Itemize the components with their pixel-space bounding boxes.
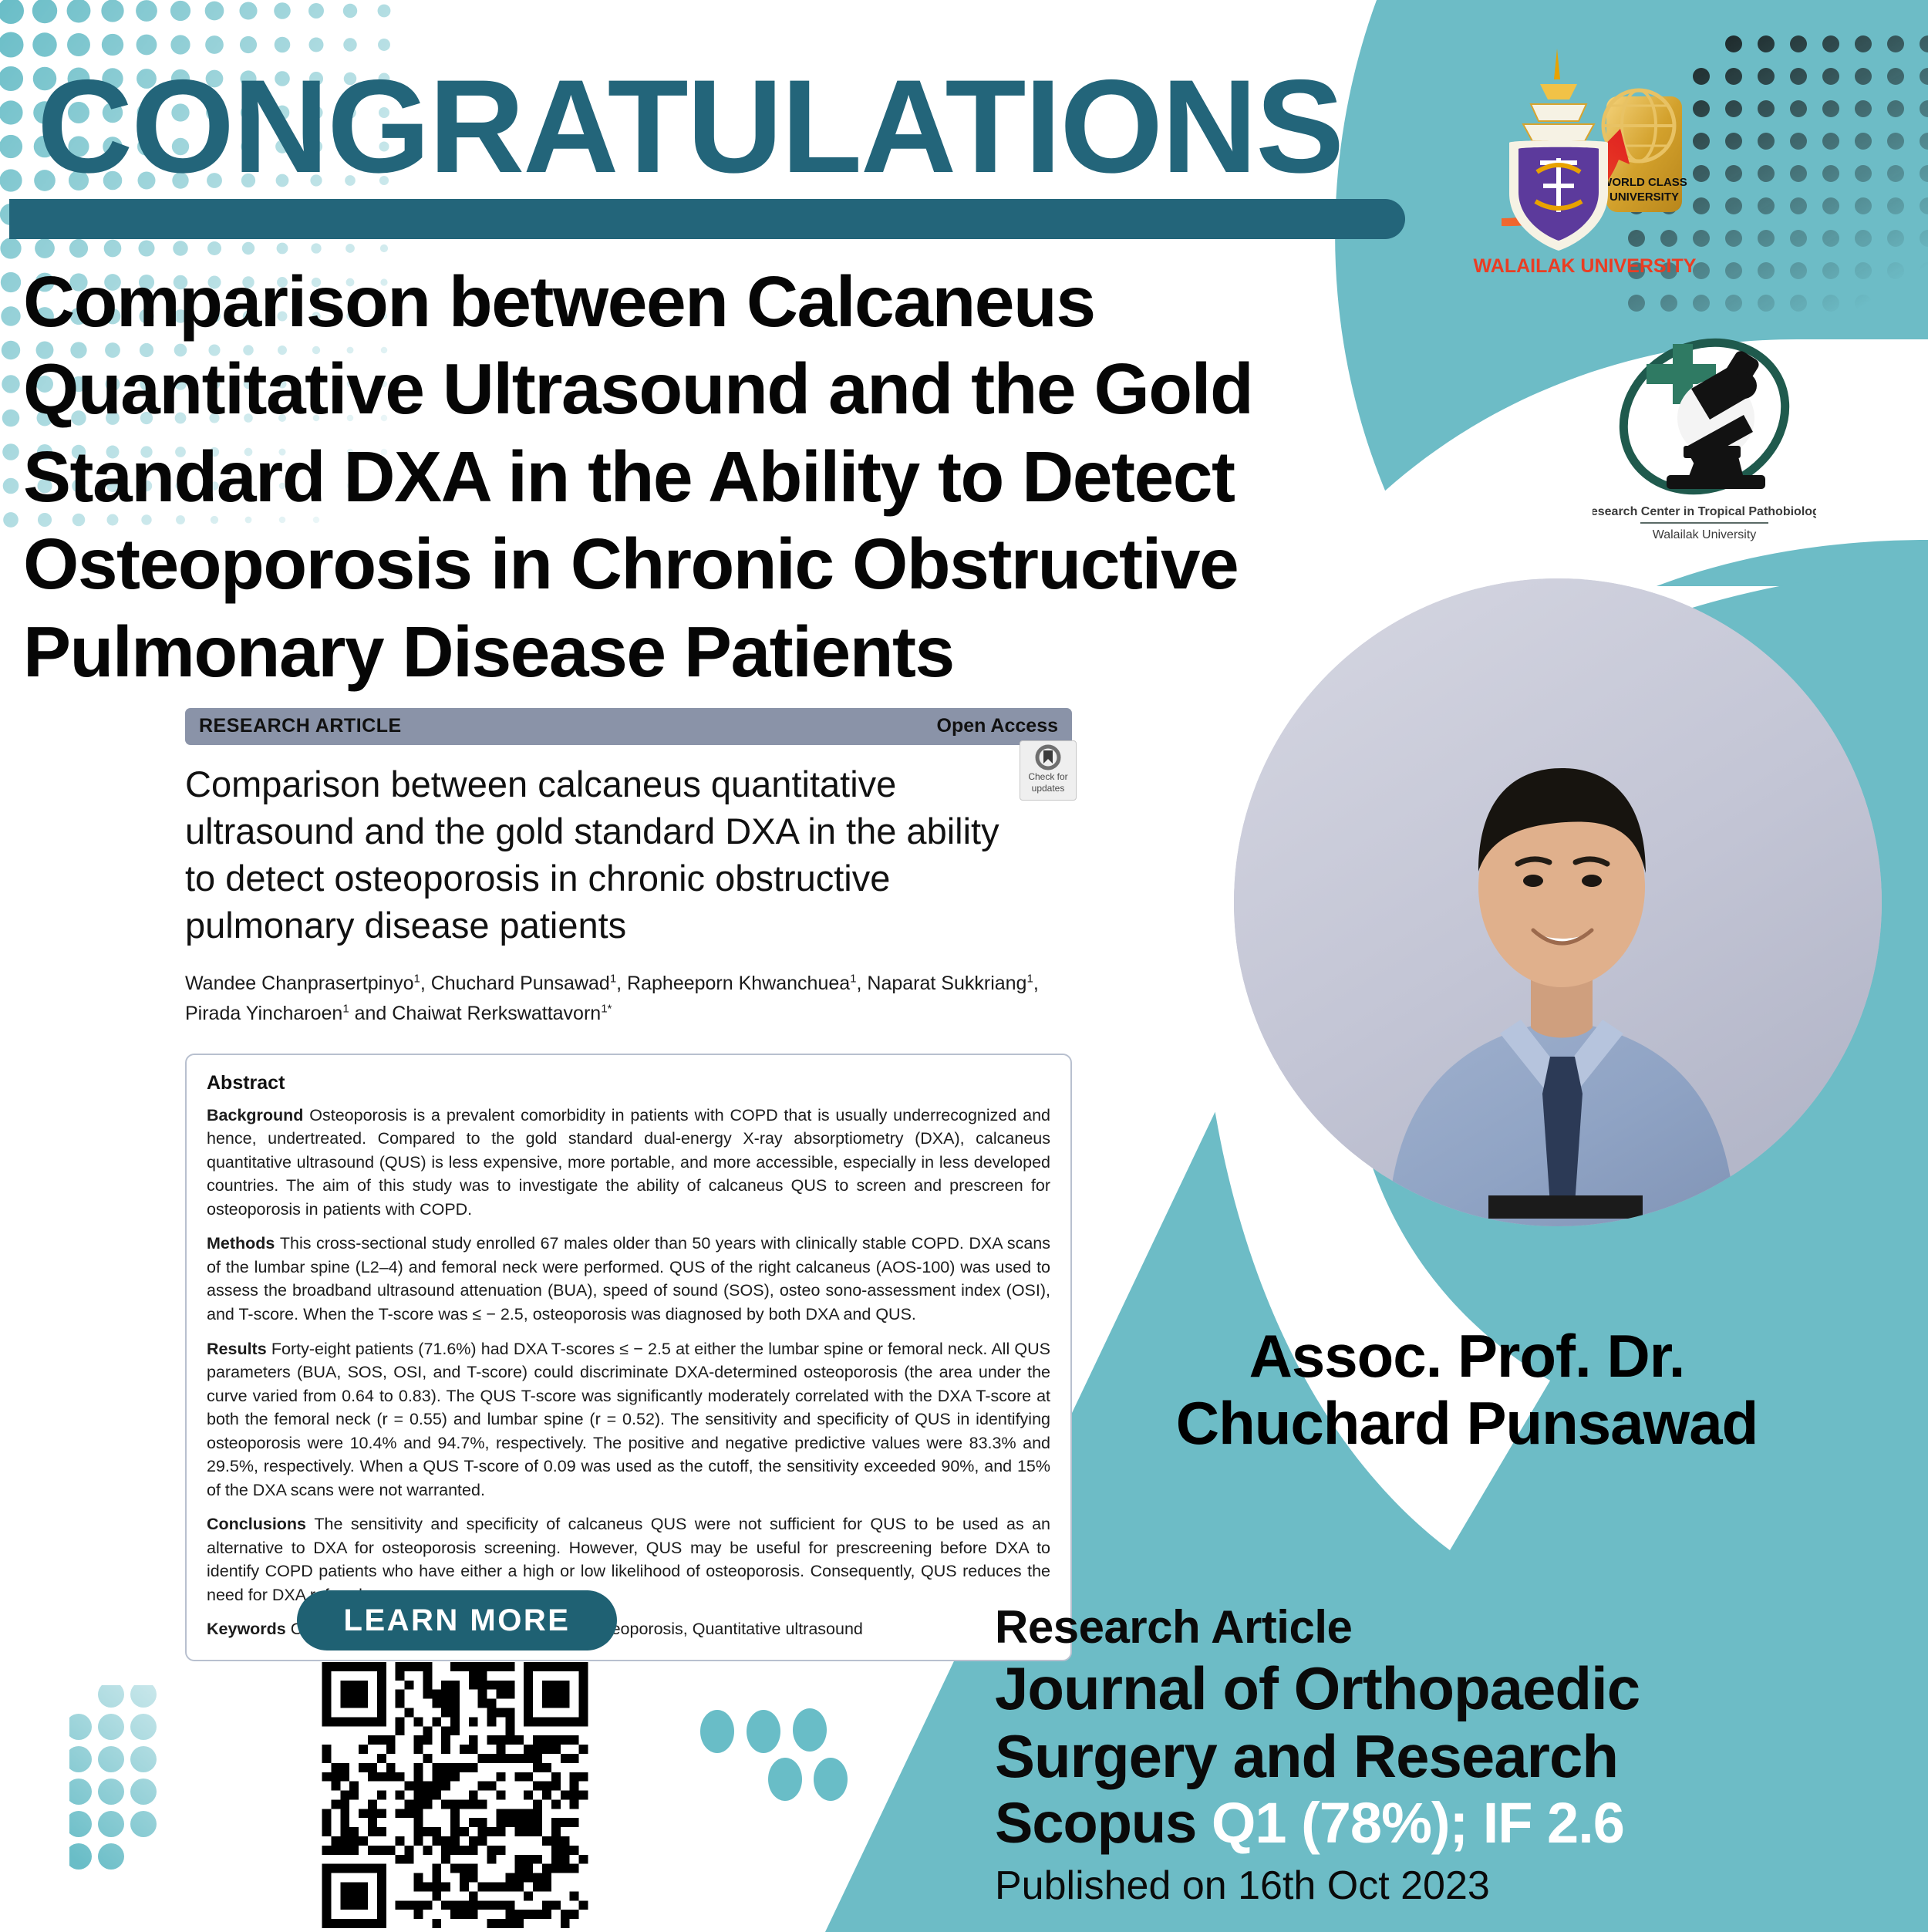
- crossmark-line1: Check for: [1028, 772, 1067, 782]
- abstract-section-results: Results Forty-eight patients (71.6%) had…: [207, 1337, 1050, 1502]
- open-access-badge: Open Access: [937, 715, 1058, 737]
- university-name-label: WALAILAK UNIVERSITY: [1474, 255, 1697, 277]
- paper-authors: Wandee Chanprasertpinyo1, Chuchard Punsa…: [185, 969, 1072, 1029]
- research-center-logo: Research Center in Tropical Pathobiology…: [1593, 324, 1816, 544]
- researcher-title-line: Assoc. Prof. Dr.: [1027, 1323, 1906, 1390]
- world-class-line2: UNIVERSITY: [1609, 191, 1679, 204]
- journal-name-line1: Journal of Orthopaedic: [995, 1654, 1905, 1722]
- scopus-metric: Q1 (78%); IF 2.6: [1212, 1791, 1624, 1855]
- qr-code[interactable]: [320, 1662, 590, 1928]
- dot-cluster-accent: [698, 1708, 852, 1832]
- paper-type-bar: RESEARCH ARTICLE Open Access: [185, 708, 1072, 745]
- researcher-name: Assoc. Prof. Dr. Chuchard Punsawad: [1027, 1323, 1906, 1458]
- abstract-sections: Background Osteoporosis is a prevalent c…: [207, 1104, 1050, 1641]
- congratulations-heading: CONGRATULATIONS: [37, 60, 1343, 193]
- abstract-heading: Abstract: [207, 1072, 1050, 1094]
- bookmark-circle-icon: [1035, 744, 1061, 770]
- abstract-section-methods: Methods This cross-sectional study enrol…: [207, 1232, 1050, 1326]
- learn-more-button[interactable]: LEARN MORE: [297, 1590, 617, 1650]
- crossmark-check-for-updates-icon[interactable]: Check for updates: [1020, 740, 1077, 801]
- paper-title-text: Comparison between calcaneus quantitativ…: [185, 764, 999, 946]
- page-title: Comparison between Calcaneus Quantitativ…: [23, 258, 1411, 696]
- abstract-box: Abstract Background Osteoporosis is a pr…: [185, 1054, 1072, 1661]
- abstract-section-background: Background Osteoporosis is a prevalent c…: [207, 1104, 1050, 1222]
- poster-canvas: CONGRATULATIONS Comparison between Calca…: [0, 0, 1928, 1932]
- journal-name-line2: Surgery and Research: [995, 1722, 1905, 1790]
- research-center-line1: Research Center in Tropical Pathobiology: [1593, 505, 1816, 518]
- article-type-label: RESEARCH ARTICLE: [199, 715, 402, 737]
- research-center-line2: Walailak University: [1653, 528, 1757, 541]
- paper-snippet: RESEARCH ARTICLE Open Access Comparison …: [185, 708, 1072, 1661]
- crossmark-line2: updates: [1032, 784, 1065, 794]
- paper-title: Comparison between calcaneus quantitativ…: [185, 760, 1072, 949]
- scopus-metric-line: Scopus Q1 (78%); IF 2.6: [995, 1790, 1905, 1856]
- header-rule: [9, 199, 1405, 239]
- world-class-line1: WORLD CLASS: [1601, 176, 1687, 189]
- dot-pattern-bottom-left: [69, 1685, 247, 1886]
- scopus-label: Scopus: [995, 1791, 1196, 1855]
- published-date: Published on 16th Oct 2023: [995, 1862, 1905, 1910]
- learn-more-label: LEARN MORE: [344, 1603, 571, 1638]
- researcher-name-line: Chuchard Punsawad: [1027, 1390, 1906, 1457]
- walailak-university-logo: WORLD CLASS UNIVERSITY WALAILAK UNIVERSI…: [1469, 42, 1700, 282]
- journal-info-block: Research Article Journal of Orthopaedic …: [995, 1600, 1905, 1910]
- journal-article-type: Research Article: [995, 1600, 1905, 1654]
